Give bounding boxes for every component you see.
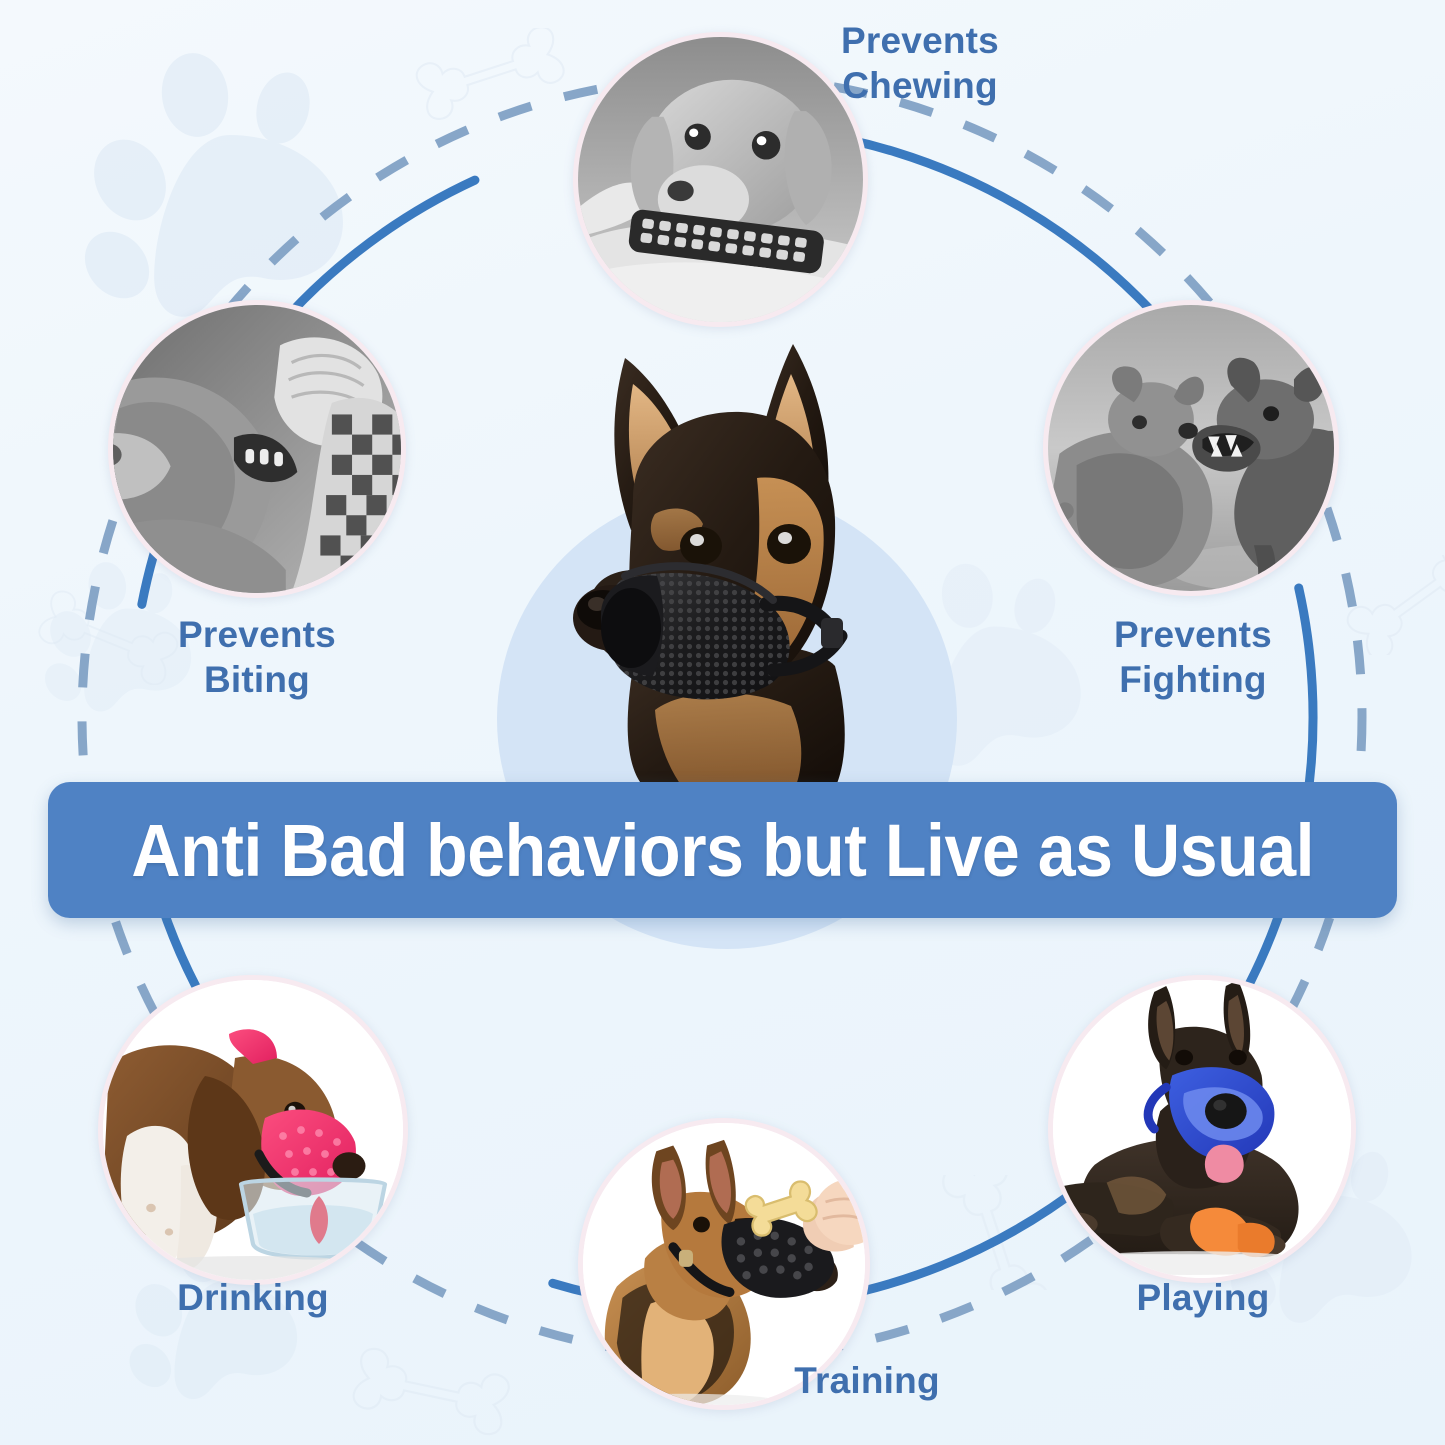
photo-playing[interactable]: [1048, 975, 1356, 1283]
headline-banner: Anti Bad behaviors but Live as Usual: [48, 782, 1397, 918]
label-drinking: Drinking: [108, 1275, 398, 1320]
photo-prevents-biting[interactable]: [108, 300, 406, 598]
headline-text: Anti Bad behaviors but Live as Usual: [131, 808, 1314, 893]
infographic-root: Prevents Chewing Prevents Biting Prevent…: [0, 0, 1445, 1445]
label-prevents-biting: Prevents Biting: [112, 612, 402, 702]
photo-prevents-fighting[interactable]: [1043, 300, 1339, 596]
label-training: Training: [722, 1358, 1012, 1403]
label-playing: Playing: [1058, 1275, 1348, 1320]
label-prevents-chewing: Prevents Chewing: [775, 18, 1065, 108]
label-prevents-fighting: Prevents Fighting: [1048, 612, 1338, 702]
hero-dog-image: [505, 318, 935, 788]
photo-drinking[interactable]: [98, 975, 408, 1285]
